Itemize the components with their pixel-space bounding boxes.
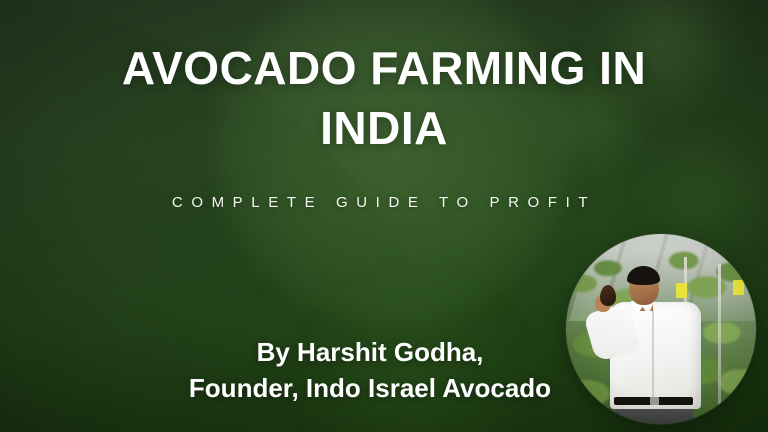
poster-title: AVOCADO FARMING IN INDIA: [0, 38, 768, 158]
title-line-1: AVOCADO FARMING IN: [122, 42, 646, 94]
poster-subtitle: COMPLETE GUIDE TO PROFIT: [0, 194, 768, 211]
poster-banner: AVOCADO FARMING IN INDIA COMPLETE GUIDE …: [0, 0, 768, 432]
photo-inner-vignette: [566, 234, 756, 424]
founder-photo: [566, 234, 756, 424]
title-line-2: INDIA: [320, 102, 448, 154]
